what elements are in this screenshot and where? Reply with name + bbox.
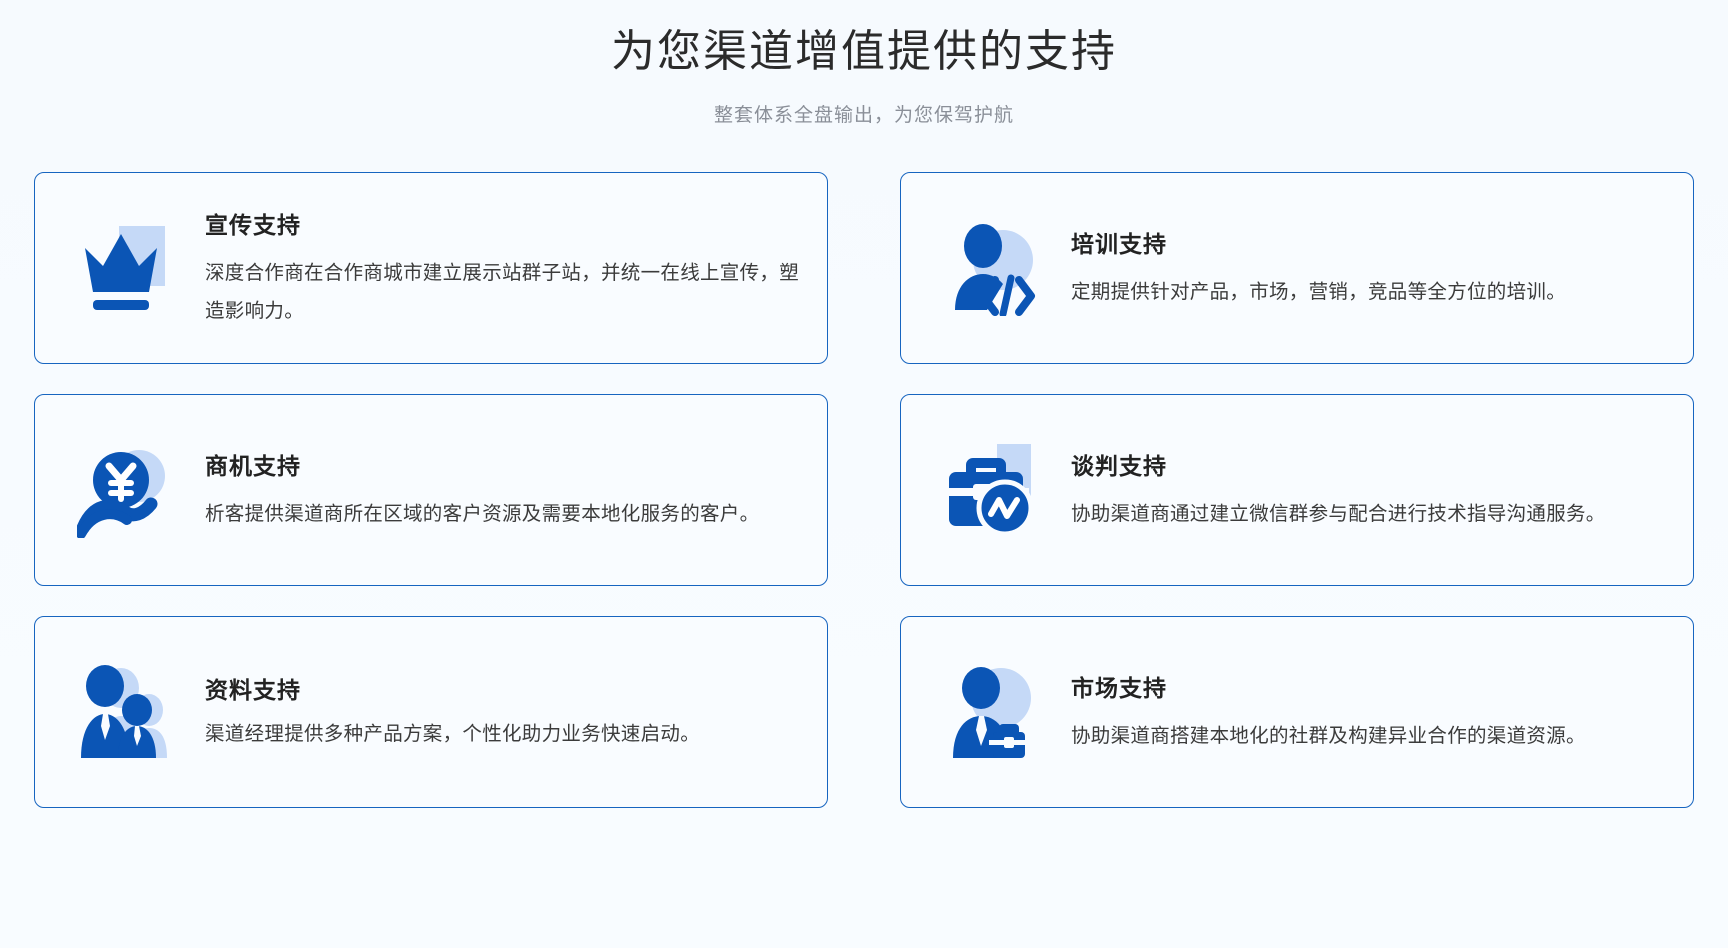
support-card-body: 谈判支持 协助渠道商通过建立微信群参与配合进行技术指导沟通服务。 [1065, 447, 1665, 533]
support-card-title: 资料支持 [205, 671, 799, 705]
support-card[interactable]: 培训支持 定期提供针对产品，市场，营销，竞品等全方位的培训。 [900, 172, 1694, 364]
support-card-body: 宣传支持 深度合作商在合作商城市建立展示站群子站，并统一在线上宣传，塑造影响力。 [199, 206, 799, 330]
briefcase-chart-icon [925, 430, 1065, 550]
page-subtitle: 整套体系全盘输出，为您保驾护航 [0, 102, 1728, 130]
support-card-title: 宣传支持 [205, 206, 799, 240]
support-card-title: 商机支持 [205, 447, 799, 481]
support-card-body: 资料支持 渠道经理提供多种产品方案，个性化助力业务快速启动。 [199, 671, 799, 753]
support-card-title: 市场支持 [1071, 669, 1665, 703]
page-header: 为您渠道增值提供的支持 整套体系全盘输出，为您保驾护航 [0, 0, 1728, 130]
support-card-desc: 深度合作商在合作商城市建立展示站群子站，并统一在线上宣传，塑造影响力。 [205, 254, 799, 330]
support-card[interactable]: 资料支持 渠道经理提供多种产品方案，个性化助力业务快速启动。 [34, 616, 828, 808]
support-card-desc: 协助渠道商通过建立微信群参与配合进行技术指导沟通服务。 [1071, 495, 1665, 533]
support-page: 为您渠道增值提供的支持 整套体系全盘输出，为您保驾护航 宣传支持 深度合作商在合… [0, 0, 1728, 948]
hand-money-icon [59, 430, 199, 550]
support-card[interactable]: 市场支持 协助渠道商搭建本地化的社群及构建异业合作的渠道资源。 [900, 616, 1694, 808]
support-card-desc: 定期提供针对产品，市场，营销，竞品等全方位的培训。 [1071, 273, 1665, 311]
support-card-body: 培训支持 定期提供针对产品，市场，营销，竞品等全方位的培训。 [1065, 225, 1665, 311]
businessman-briefcase-icon [925, 652, 1065, 772]
support-card-body: 市场支持 协助渠道商搭建本地化的社群及构建异业合作的渠道资源。 [1065, 669, 1665, 755]
support-card-grid: 宣传支持 深度合作商在合作商城市建立展示站群子站，并统一在线上宣传，塑造影响力。… [0, 172, 1728, 808]
person-code-icon [925, 208, 1065, 328]
support-card[interactable]: 谈判支持 协助渠道商通过建立微信群参与配合进行技术指导沟通服务。 [900, 394, 1694, 586]
support-card-desc: 析客提供渠道商所在区域的客户资源及需要本地化服务的客户。 [205, 495, 799, 533]
support-card-title: 谈判支持 [1071, 447, 1665, 481]
support-card-desc: 协助渠道商搭建本地化的社群及构建异业合作的渠道资源。 [1071, 717, 1665, 755]
support-card[interactable]: 商机支持 析客提供渠道商所在区域的客户资源及需要本地化服务的客户。 [34, 394, 828, 586]
team-people-icon [59, 652, 199, 772]
support-card-title: 培训支持 [1071, 225, 1665, 259]
support-card-desc: 渠道经理提供多种产品方案，个性化助力业务快速启动。 [205, 715, 799, 753]
crown-icon [59, 208, 199, 328]
page-title: 为您渠道增值提供的支持 [0, 20, 1728, 84]
support-card[interactable]: 宣传支持 深度合作商在合作商城市建立展示站群子站，并统一在线上宣传，塑造影响力。 [34, 172, 828, 364]
support-card-body: 商机支持 析客提供渠道商所在区域的客户资源及需要本地化服务的客户。 [199, 447, 799, 533]
